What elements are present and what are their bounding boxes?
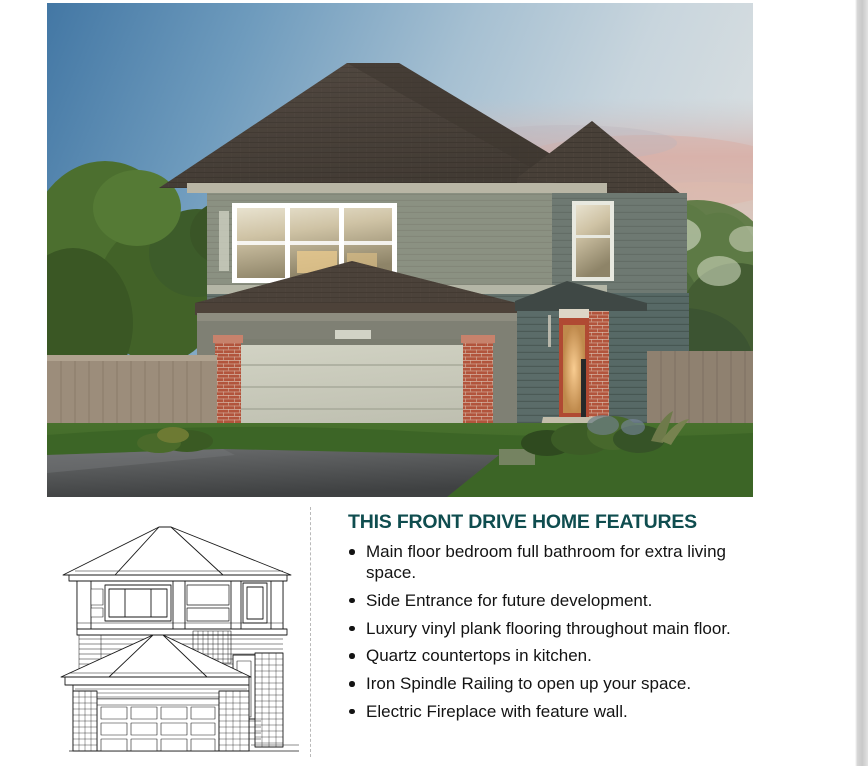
page-root: THIS FRONT DRIVE HOME FEATURES Main floo… [0,0,868,766]
list-item: Luxury vinyl plank flooring throughout m… [344,619,753,640]
list-item: Side Entrance for future development. [344,591,753,612]
elevation-drawing-svg [55,513,307,757]
list-item: Main floor bedroom full bathroom for ext… [344,542,753,583]
feature-text: Electric Fireplace with feature wall. [366,702,628,721]
feature-text: Main floor bedroom full bathroom for ext… [366,542,726,582]
page-edge-strip [855,0,868,766]
list-item: Quartz countertops in kitchen. [344,646,753,667]
feature-text: Luxury vinyl plank flooring throughout m… [366,619,731,638]
list-item: Electric Fireplace with feature wall. [344,702,753,723]
features-list: Main floor bedroom full bathroom for ext… [344,542,753,722]
feature-text: Iron Spindle Railing to open up your spa… [366,674,691,693]
features-panel: THIS FRONT DRIVE HOME FEATURES Main floo… [344,505,753,730]
list-item: Iron Spindle Railing to open up your spa… [344,674,753,695]
architectural-line-elevation [55,513,307,757]
column-divider [310,507,311,757]
bullet-icon [349,549,355,555]
lower-content: THIS FRONT DRIVE HOME FEATURES Main floo… [47,505,753,757]
bullet-icon [349,681,355,687]
feature-text: Quartz countertops in kitchen. [366,646,592,665]
bullet-icon [349,653,355,659]
bullet-icon [349,626,355,632]
bullet-icon [349,709,355,715]
bullet-icon [349,598,355,604]
hero-rendering-svg [47,3,753,497]
hero-photo [47,3,753,497]
feature-text: Side Entrance for future development. [366,591,652,610]
features-heading: THIS FRONT DRIVE HOME FEATURES [348,512,753,533]
